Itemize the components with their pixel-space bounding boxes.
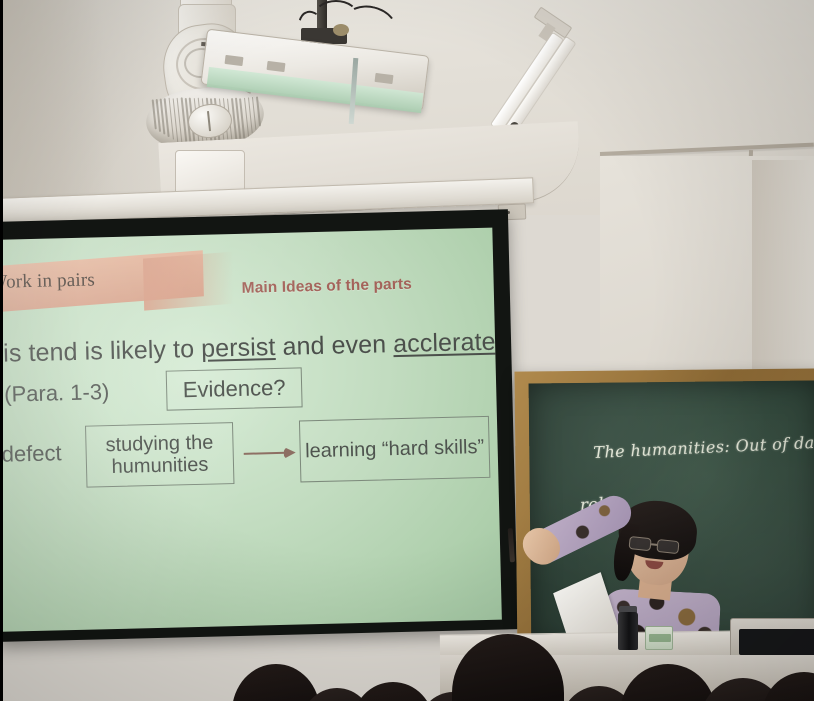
fluorescent-light-icon [512,18,632,123]
slide-keyword-acclerate: acclerate [393,328,496,358]
student-head [232,664,320,701]
student-heads [0,612,814,701]
teacher-hand [516,521,566,572]
projection-screen[interactable]: Work in pairs Main Ideas of the parts hi… [0,228,502,632]
slide-box-left: studying the humunities [85,422,234,488]
left-edge-bar [0,0,3,701]
student-head [762,672,814,701]
arrow-shaft [244,452,286,455]
glasses-lens-left [628,536,651,551]
slide-label-defect: defect [1,440,62,467]
projection-screen-frame: Work in pairs Main Ideas of the parts hi… [0,209,518,642]
slide-keyword-persist: persist [201,333,276,363]
slide-sentence: his tend is likely to persist and even a… [0,327,502,369]
slide-arrow-icon [244,447,296,460]
projector-knob [333,24,349,36]
slide-paragraph-reference: (Para. 1-3) [4,379,110,408]
slide-sentence-pre: his tend is likely to [0,335,202,368]
slide-title: Main Ideas of the parts [241,276,412,298]
slide-ribbon-label: Work in pairs [0,267,180,294]
classroom-scene: Work in pairs Main Ideas of the parts hi… [0,0,814,701]
arrow-head [284,447,296,459]
slide-sentence-mid: and even [275,330,393,361]
ceiling-corner [0,0,130,215]
student-head [620,664,716,701]
projector-icon [255,0,440,122]
glasses-lens-right [656,539,679,554]
slide-box-evidence: Evidence? [166,367,303,410]
student-head [352,682,434,701]
student-head [452,634,564,701]
slide-box-right: learning “hard skills” [299,416,490,483]
